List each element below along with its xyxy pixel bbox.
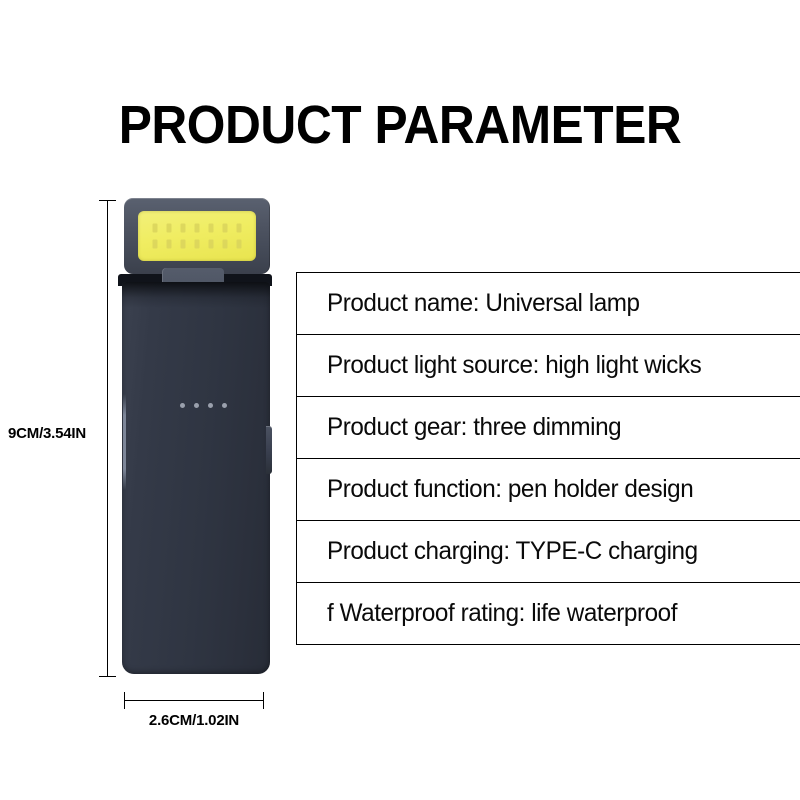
indicator-dot [194, 403, 199, 408]
width-dimension-line [124, 700, 264, 701]
width-dimension-tick-left [124, 692, 125, 709]
spec-row-text: Product gear: three dimming [327, 413, 621, 442]
table-row: Product light source: high light wicks [297, 335, 800, 397]
height-dimension-line [107, 200, 108, 676]
table-row: Product charging: TYPE-C charging [297, 521, 800, 583]
table-row: Product gear: three dimming [297, 397, 800, 459]
led-chip-grid [153, 224, 242, 249]
spec-row-text: Product function: pen holder design [327, 475, 693, 504]
spec-row-text: Product name: Universal lamp [327, 289, 640, 318]
table-row: f Waterproof rating: life waterproof [297, 583, 800, 645]
height-dimension-tick-bottom [99, 676, 116, 677]
page-title: PRODUCT PARAMETER [32, 96, 768, 154]
product-parameter-infographic: PRODUCT PARAMETER [0, 0, 800, 800]
led-chip [223, 224, 228, 233]
table-row: Product name: Universal lamp [297, 273, 800, 335]
battery-indicator-dots [180, 403, 227, 408]
indicator-dot [180, 403, 185, 408]
led-chip [167, 240, 172, 249]
spec-table: Product name: Universal lamp Product lig… [296, 272, 800, 645]
height-dimension-tick-top [99, 200, 116, 201]
led-chip [209, 240, 214, 249]
led-chip [195, 240, 200, 249]
lamp-body-top-shading [122, 282, 270, 308]
table-row: Product function: pen holder design [297, 459, 800, 521]
indicator-dot [208, 403, 213, 408]
spec-row-text: Product charging: TYPE-C charging [327, 537, 698, 566]
led-chip [223, 240, 228, 249]
lamp-power-button [266, 426, 272, 474]
height-dimension-label: 9CM/3.54IN [8, 425, 86, 442]
led-chip [209, 224, 214, 233]
led-chip [181, 240, 186, 249]
lamp-body [122, 282, 270, 674]
spec-row-text: Product light source: high light wicks [327, 351, 701, 380]
led-chip [167, 224, 172, 233]
spec-row-text: f Waterproof rating: life waterproof [327, 599, 677, 628]
led-chip [237, 224, 242, 233]
lamp-left-edge-highlight [123, 394, 126, 490]
product-illustration [118, 198, 272, 682]
led-panel [138, 211, 256, 261]
led-chip [181, 224, 186, 233]
led-chip [237, 240, 242, 249]
lamp-head-bezel [124, 198, 270, 274]
led-chip [195, 224, 200, 233]
width-dimension-label: 2.6CM/1.02IN [124, 712, 264, 729]
led-chip [153, 224, 158, 233]
width-dimension-tick-right [263, 692, 264, 709]
indicator-dot [222, 403, 227, 408]
led-chip [153, 240, 158, 249]
